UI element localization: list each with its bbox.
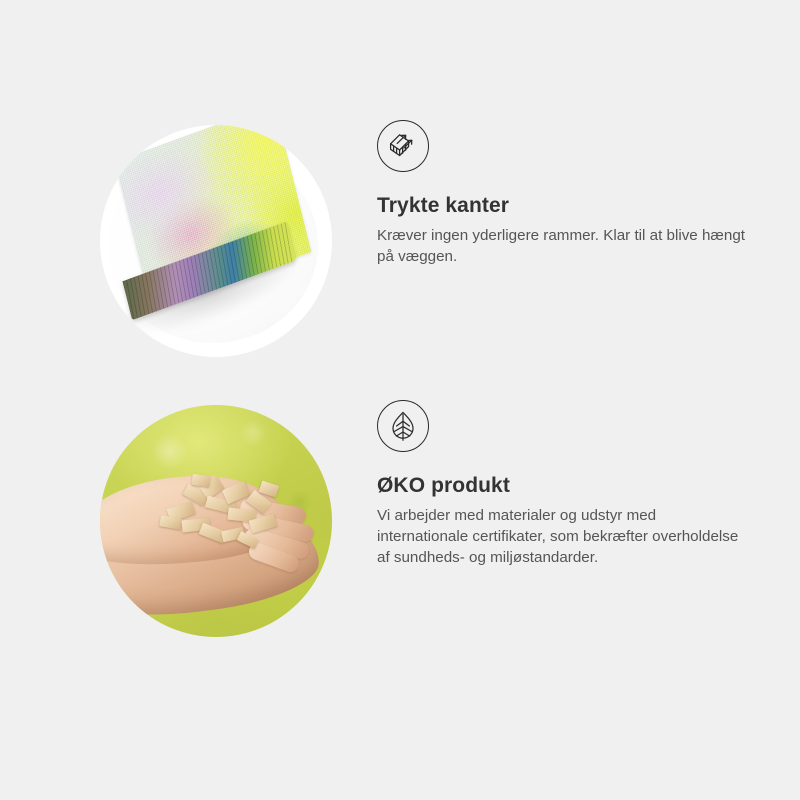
canvas-print-corner-photo [100, 125, 332, 357]
wood-chip [191, 474, 210, 487]
feature-block-printed-edges: Trykte kanter Kræver ingen yderligere ra… [0, 120, 800, 380]
feature-title: ØKO produkt [377, 452, 767, 498]
product-features-panel: Trykte kanter Kræver ingen yderligere ra… [0, 0, 800, 800]
wrapped-canvas-edge-icon [377, 120, 429, 172]
feature-description: Kræver ingen yderligere rammer. Klar til… [377, 218, 749, 267]
hands-holding-wood-chips-photo [100, 405, 332, 637]
wood-chip [237, 531, 259, 549]
feature-description: Vi arbejder med materialer og udstyr med… [377, 498, 749, 568]
feature-text-column: ØKO produkt Vi arbejder med materialer o… [377, 400, 767, 568]
feature-text-column: Trykte kanter Kræver ingen yderligere ra… [377, 120, 767, 267]
wood-chip-pile [156, 475, 284, 553]
canvas-print-circle-image [100, 125, 332, 357]
leaf-icon [377, 400, 429, 452]
wood-chips-circle-image [100, 405, 332, 637]
feature-block-eco-product: ØKO produkt Vi arbejder med materialer o… [0, 400, 800, 660]
feature-title: Trykte kanter [377, 172, 767, 218]
